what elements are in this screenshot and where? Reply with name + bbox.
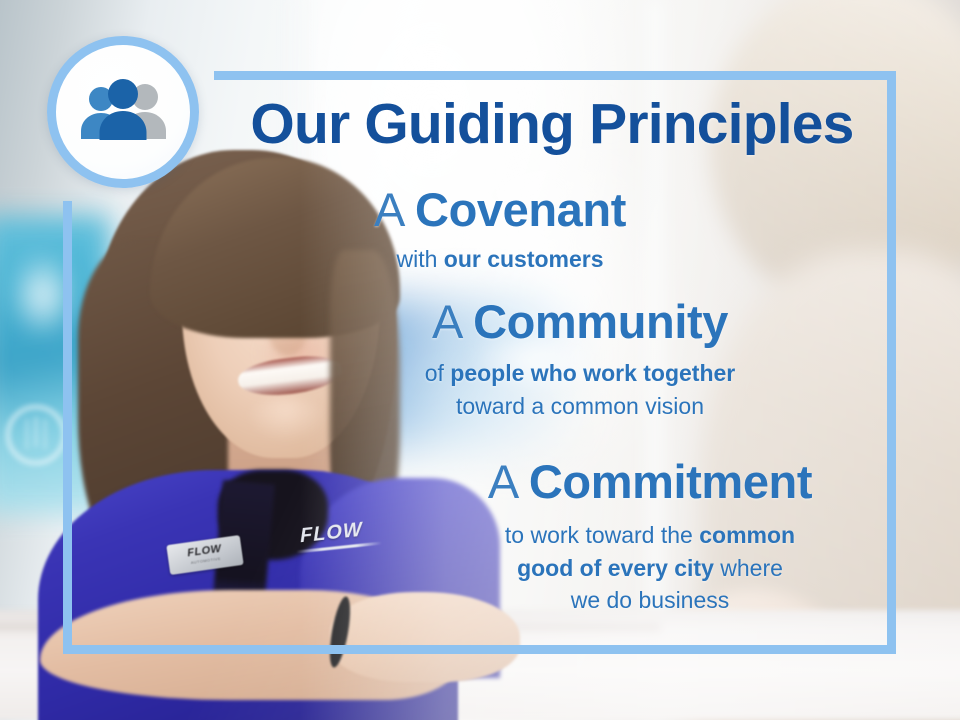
people-badge-circle (47, 36, 199, 188)
page-title: Our Guiding Principles (222, 96, 882, 153)
principle-commitment: A Commitment to work toward the commongo… (420, 458, 880, 617)
people-group-icon (73, 79, 173, 145)
principle-commitment-heading: A Commitment (420, 458, 880, 507)
principle-covenant-heading: A Covenant (300, 186, 700, 235)
principle-commitment-noun: Commitment (529, 455, 812, 508)
principle-community: A Community of people who work togethert… (370, 298, 790, 422)
principle-covenant: A Covenant with our customers (300, 186, 700, 276)
principle-community-subtext: of people who work togethertoward a comm… (370, 357, 790, 422)
principle-community-heading: A Community (370, 298, 790, 347)
principle-commitment-article: A (488, 455, 516, 508)
principle-community-article: A (432, 295, 460, 348)
principle-covenant-noun: Covenant (415, 183, 626, 236)
principle-commitment-subtext: to work toward the commongood of every c… (420, 519, 880, 617)
principle-covenant-article: A (374, 183, 402, 236)
principle-covenant-subtext: with our customers (300, 243, 700, 276)
principle-community-noun: Community (473, 295, 728, 348)
guiding-principles-graphic: FLOW AUTOMOTIVE FLOW Our Guiding (0, 0, 960, 720)
